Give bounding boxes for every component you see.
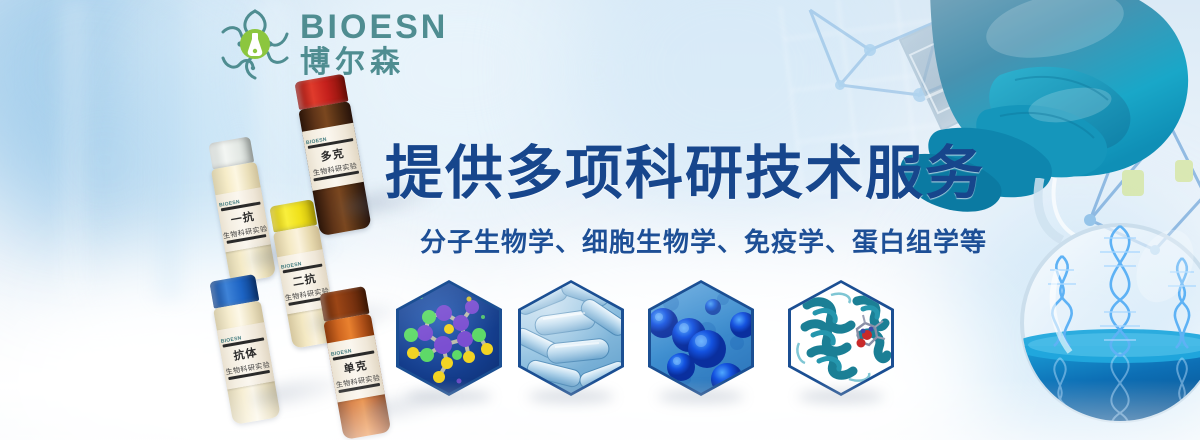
bioesn-logo[interactable]: BIOESN 博尔森 <box>218 6 448 82</box>
promo-banner: BIOESN 一抗 生物科研实验 BIOESN 多克 生物科研实验 <box>0 0 1200 440</box>
hex-shadow <box>658 390 744 404</box>
hex-shadow <box>798 390 884 404</box>
vial-label-main: 抗体 <box>232 344 258 364</box>
dna-flask-logo-icon <box>218 6 292 82</box>
logo-chinese-name: 博尔森 <box>300 48 448 78</box>
round-flask-with-dna <box>1000 178 1200 440</box>
logo-text: BIOESN 博尔森 <box>300 10 448 78</box>
vial-label-main: 多克 <box>319 145 345 165</box>
vial-label-main: 单克 <box>342 357 368 377</box>
vial-label-main: 一抗 <box>230 208 256 228</box>
hex-shadow <box>528 390 614 404</box>
logo-english-name: BIOESN <box>300 10 448 44</box>
hex-shadow <box>406 390 492 404</box>
vial-label-main: 二抗 <box>291 270 317 290</box>
page-title: 提供多项科研技术服务 <box>385 126 985 210</box>
page-subtitle: 分子生物学、细胞生物学、免疫学、蛋白组学等 <box>420 222 987 259</box>
